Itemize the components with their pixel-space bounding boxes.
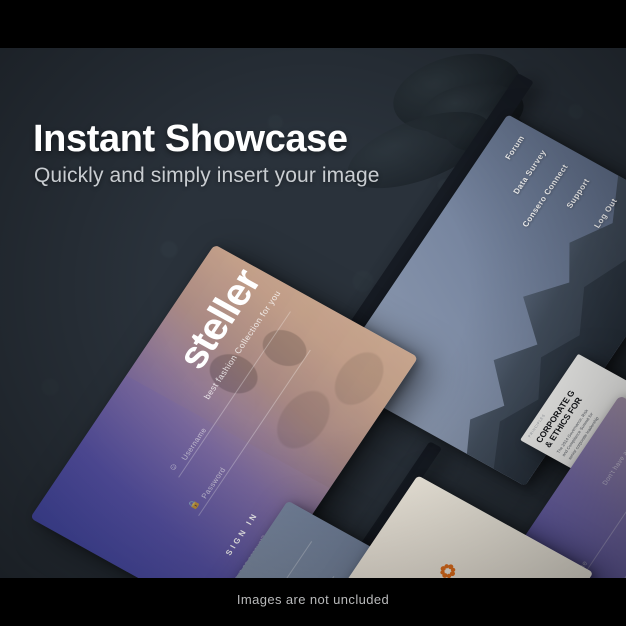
page-title: Instant Showcase (33, 118, 348, 161)
footer-caption: Images are not uncluded (0, 592, 626, 607)
page-subtitle: Quickly and simply insert your image (34, 164, 380, 188)
letterbox-top (0, 0, 626, 48)
mockup-scene: Forum Data Survey Consero Connect Suppor… (0, 0, 626, 626)
